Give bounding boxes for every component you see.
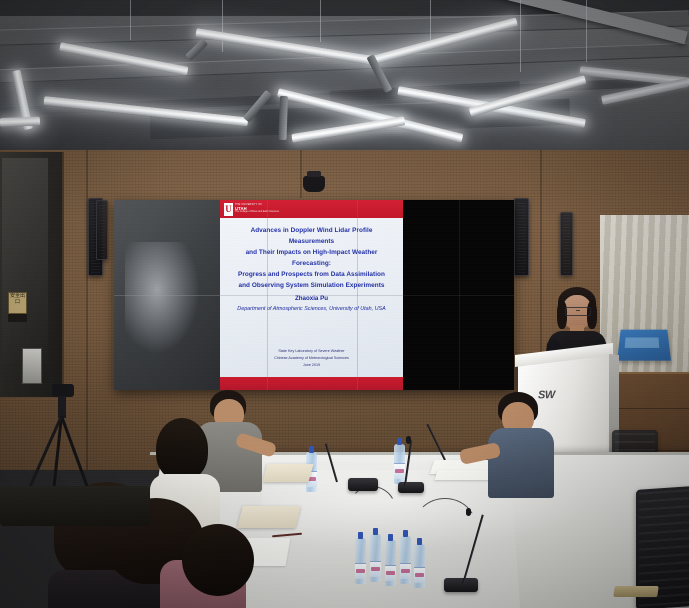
ceiling xyxy=(0,0,689,160)
logo-line-3: The College of Mines and Earth Sciences xyxy=(235,211,279,214)
slide-footer-bar xyxy=(220,377,403,390)
slide-header-bar: U THE UNIVERSITY OF UTAH The College of … xyxy=(220,200,403,218)
light-suspension-wire xyxy=(520,0,521,72)
led-fixture-arm xyxy=(278,96,288,140)
slide-footer-block: State Key Laboratory of Severe Weather C… xyxy=(227,348,396,369)
slide-title-line: Progress and Prospects from Data Assimil… xyxy=(227,269,396,280)
attendee-body xyxy=(488,428,554,498)
water-bottle xyxy=(355,538,366,584)
wall-speaker-center-left xyxy=(96,200,108,260)
attendee-hair xyxy=(182,524,254,596)
wall-speaker-right xyxy=(514,198,529,276)
attendee-hair xyxy=(156,418,208,480)
slide-title-line: and Their Impacts on High-Impact Weather… xyxy=(227,247,396,269)
water-bottle xyxy=(414,544,425,588)
microphone-base xyxy=(398,482,424,493)
presentation-slide: U THE UNIVERSITY OF UTAH The College of … xyxy=(220,200,403,390)
video-wall-display[interactable]: U THE UNIVERSITY OF UTAH The College of … xyxy=(114,200,514,390)
conference-room-photo: 安全出口 U THE UNIVERSITY OF UTAH xyxy=(0,0,689,608)
ceiling-camera-icon xyxy=(303,176,325,192)
exit-sign: 安全出口 xyxy=(8,292,27,314)
video-wall-panel-black xyxy=(403,200,514,390)
water-bottle xyxy=(394,444,405,484)
wall-speaker-far-right xyxy=(560,212,573,276)
presenter-name: Zhaoxia Pu xyxy=(227,295,396,302)
presenter-glasses xyxy=(565,307,591,316)
slide-footer-line: June 2019 xyxy=(227,362,396,369)
attendee-head-of-table xyxy=(488,392,560,498)
light-suspension-wire xyxy=(130,0,131,40)
slide-footer-line: Chinese Academy of Meteorological Scienc… xyxy=(227,355,396,362)
water-bottle xyxy=(370,534,381,582)
slide-title-line: Advances in Doppler Wind Lidar Profile M… xyxy=(227,225,396,247)
floor-equipment-case xyxy=(0,486,150,526)
microphone-head xyxy=(406,436,411,444)
water-bottle xyxy=(385,540,396,586)
wall-equipment-box xyxy=(22,348,42,384)
slide-author-block: Zhaoxia Pu Department of Atmospheric Sci… xyxy=(227,295,396,312)
light-suspension-wire xyxy=(222,0,223,52)
slide-footer-line: State Key Laboratory of Severe Weather xyxy=(227,348,396,355)
microphone-base xyxy=(444,578,478,592)
utah-u-mark: U xyxy=(224,203,233,216)
led-fixture-arm xyxy=(185,38,208,60)
paper-sheet xyxy=(434,470,493,480)
notebook xyxy=(262,464,313,482)
water-bottle xyxy=(400,536,411,584)
camera-tripod xyxy=(30,384,94,502)
attendee-foreground-right xyxy=(182,524,262,608)
table-cable-port xyxy=(613,586,659,597)
door-glass-panel xyxy=(2,158,48,363)
university-logo: U THE UNIVERSITY OF UTAH The College of … xyxy=(224,203,279,216)
slide-title-line: and Observing System Simulation Experime… xyxy=(227,280,396,291)
logo-line-1: THE UNIVERSITY OF xyxy=(235,204,279,207)
video-wall-panel-dim xyxy=(114,200,220,390)
exit-sign-base xyxy=(8,314,27,322)
ceiling-led-fixture xyxy=(0,117,40,127)
light-suspension-wire xyxy=(586,0,587,62)
light-suspension-wire xyxy=(320,0,321,42)
slide-title: Advances in Doppler Wind Lidar Profile M… xyxy=(227,225,396,291)
presenter-affiliation: Department of Atmospheric Sciences, Univ… xyxy=(227,306,396,312)
blue-display-object xyxy=(617,330,671,361)
light-suspension-wire xyxy=(430,0,431,40)
